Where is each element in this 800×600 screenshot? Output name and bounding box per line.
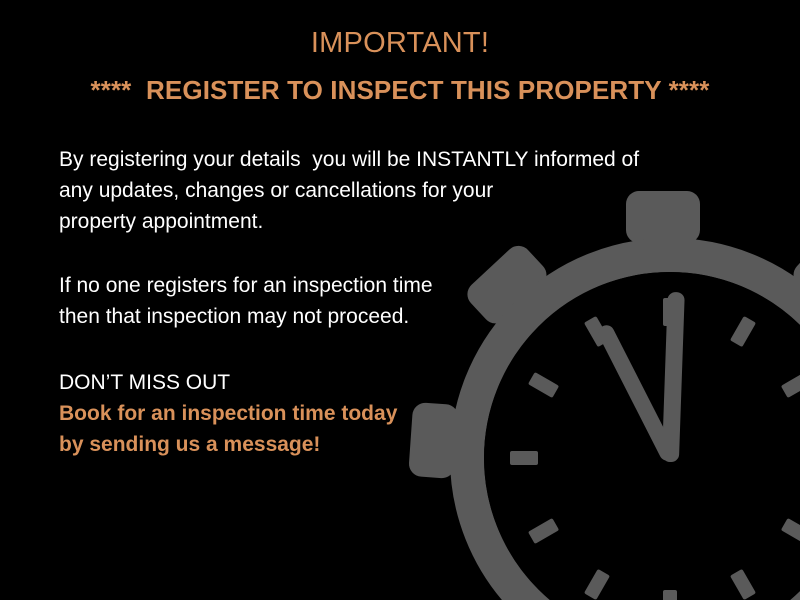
- cta-book-inspection: Book for an inspection time today: [59, 398, 719, 429]
- headline-register-to-inspect: **** REGISTER TO INSPECT THIS PROPERTY *…: [0, 72, 800, 108]
- cta-send-message: by sending us a message!: [59, 429, 719, 460]
- paragraph2-line1: If no one registers for an inspection ti…: [59, 270, 719, 301]
- paragraph-no-registration-warning: If no one registers for an inspection ti…: [59, 270, 719, 332]
- headline-important: IMPORTANT!: [0, 24, 800, 62]
- slide-canvas: IMPORTANT! **** REGISTER TO INSPECT THIS…: [0, 0, 800, 600]
- body-copy-block: By registering your details you will be …: [59, 144, 719, 460]
- headline-block: IMPORTANT! **** REGISTER TO INSPECT THIS…: [0, 24, 800, 108]
- paragraph1-line3: property appointment.: [59, 206, 719, 237]
- cta-dont-miss-out: DON’T MISS OUT: [59, 367, 719, 398]
- paragraph-registering-benefits: By registering your details you will be …: [59, 144, 719, 237]
- paragraph1-line2: any updates, changes or cancellations fo…: [59, 175, 719, 206]
- call-to-action-block: DON’T MISS OUT Book for an inspection ti…: [59, 367, 719, 460]
- paragraph1-line1: By registering your details you will be …: [59, 144, 719, 175]
- paragraph2-line2: then that inspection may not proceed.: [59, 301, 719, 332]
- stopwatch-right-lug: [788, 240, 800, 328]
